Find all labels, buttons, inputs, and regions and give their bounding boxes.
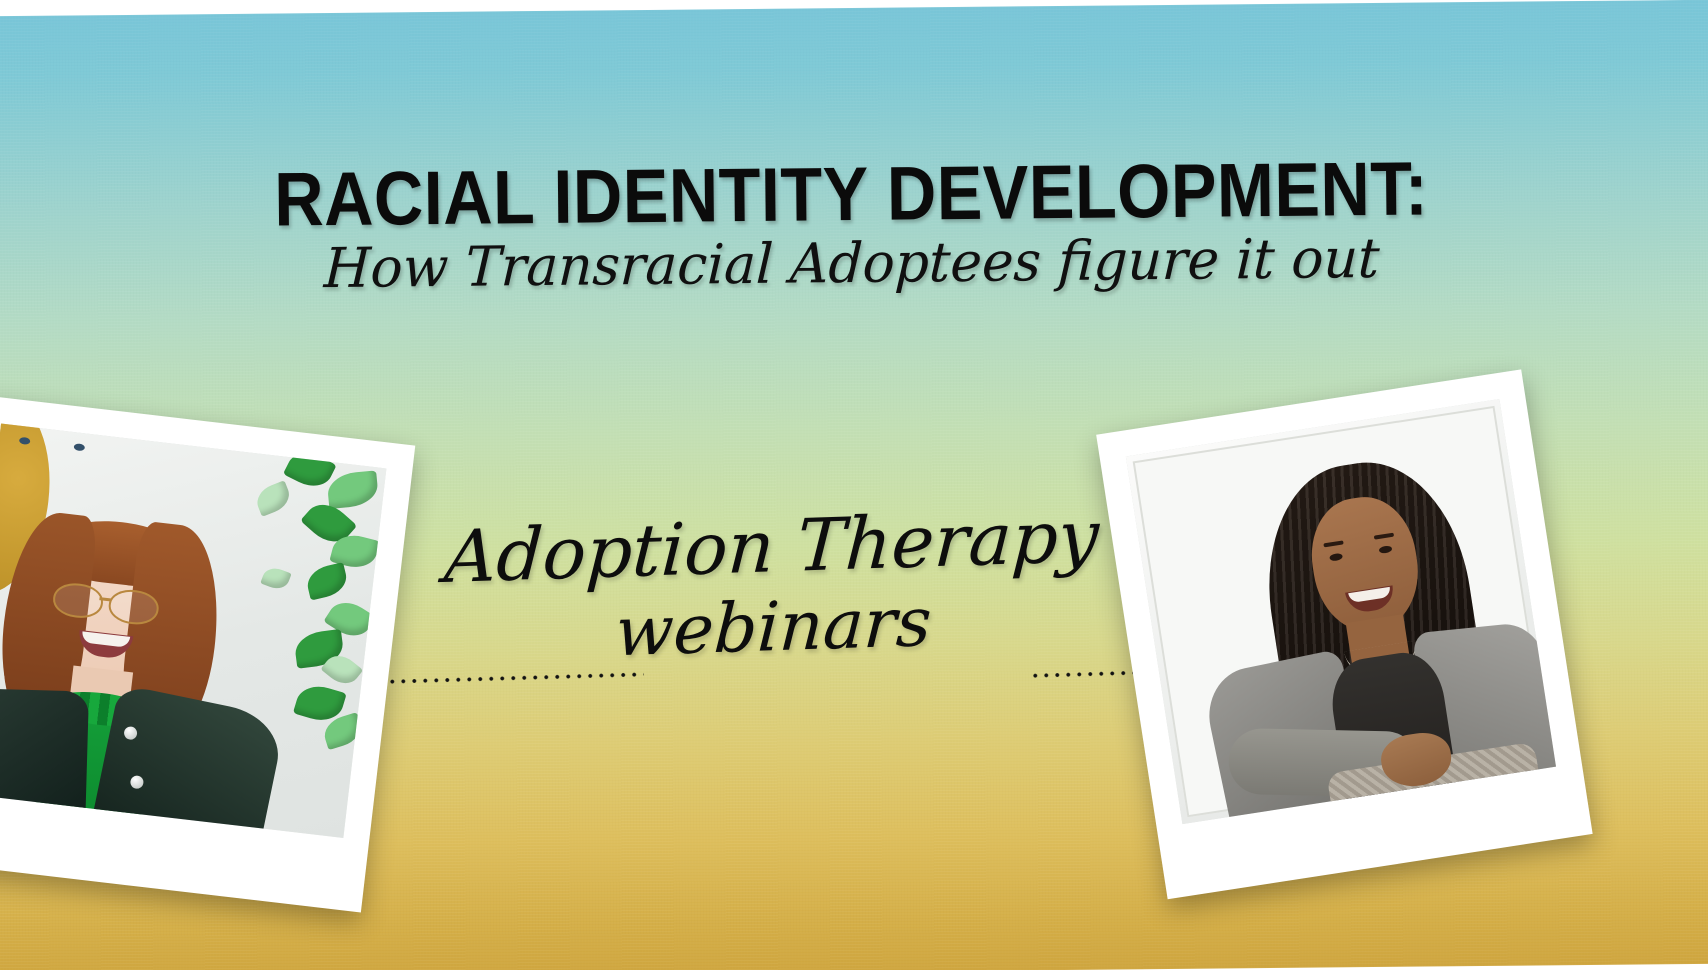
presenter-photo-left	[0, 395, 415, 913]
presenter-photo-left-image	[0, 424, 386, 838]
presenter-photo-right-image	[1126, 399, 1556, 824]
presenter-photo-right	[1096, 369, 1592, 899]
slide-background: RACIAL IDENTITY DEVELOPMENT: How Transra…	[0, 0, 1708, 970]
brand-name-line-2: webinars	[613, 583, 933, 672]
brand-name-line-1: Adoption Therapy	[442, 494, 1101, 599]
slide-stage: RACIAL IDENTITY DEVELOPMENT: How Transra…	[0, 0, 1708, 970]
page-title: RACIAL IDENTITY DEVELOPMENT:	[66, 150, 1636, 240]
page-subtitle: How Transracial Adoptees figure it out	[5, 228, 1699, 299]
dotted-divider-left	[376, 671, 644, 686]
portrait-illustration-left	[0, 424, 386, 838]
headline-block: RACIAL IDENTITY DEVELOPMENT: How Transra…	[0, 150, 1708, 300]
leather-jacket-left	[0, 688, 89, 814]
portrait-illustration-right	[1126, 399, 1556, 824]
